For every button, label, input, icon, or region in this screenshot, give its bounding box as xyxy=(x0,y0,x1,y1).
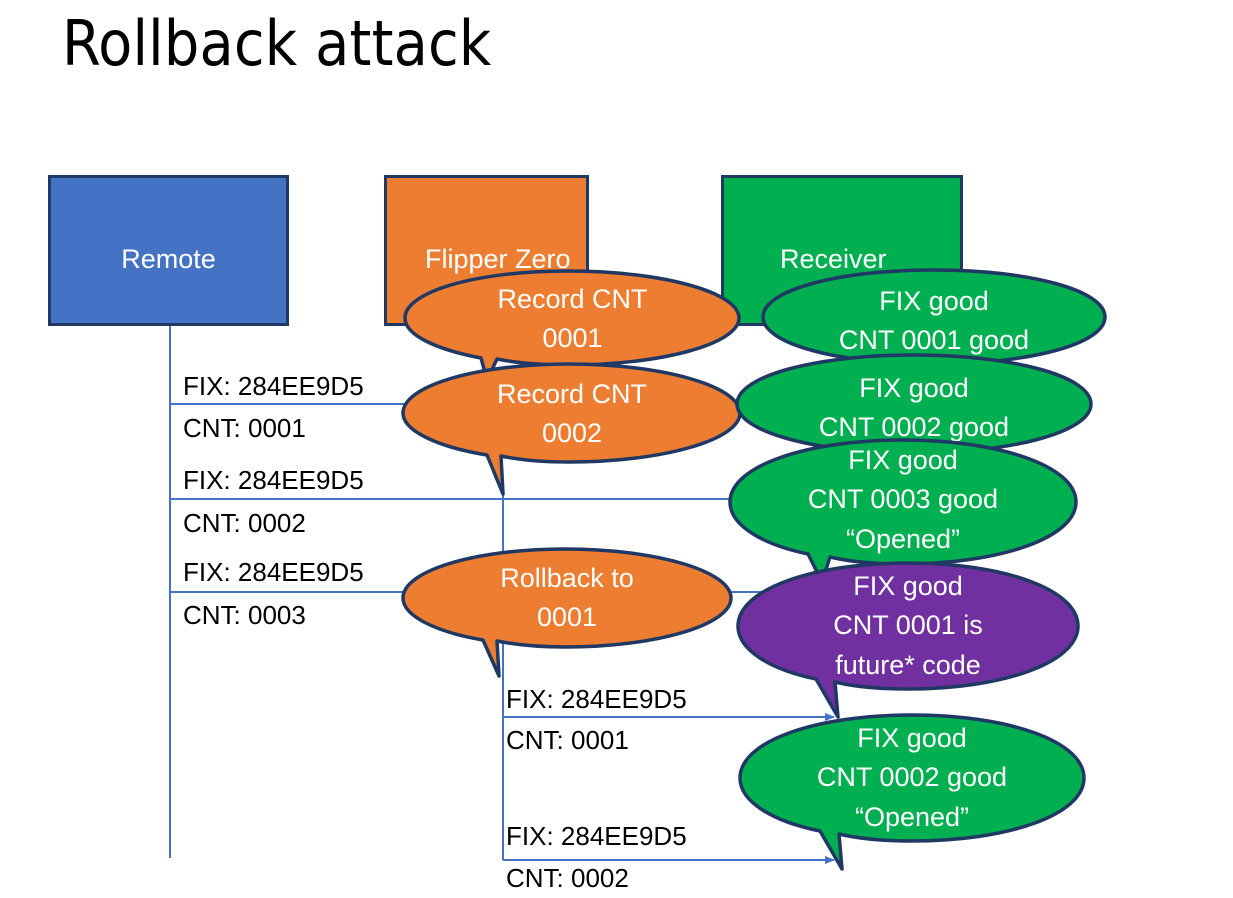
message-cnt-m5: CNT: 0002 xyxy=(506,864,629,893)
bubble-shape xyxy=(399,361,745,501)
message-cnt-m4: CNT: 0001 xyxy=(506,726,629,755)
message-fix-m1: FIX: 284EE9D5 xyxy=(183,372,364,401)
speech-bubble-flipper-2[interactable]: Record CNT 0002 xyxy=(399,361,745,501)
speech-bubble-receiver-4[interactable]: FIX good CNT 0001 is future* code xyxy=(734,560,1082,720)
message-cnt-m1: CNT: 0001 xyxy=(183,414,306,443)
actor-label-remote: Remote xyxy=(51,245,286,275)
message-fix-m2: FIX: 284EE9D5 xyxy=(183,466,364,495)
slide-canvas: Rollback attack Remote Flipper Zero Rece… xyxy=(0,0,1233,898)
speech-bubble-receiver-5[interactable]: FIX good CNT 0002 good “Opened” xyxy=(736,712,1088,872)
bubble-shape xyxy=(734,560,1082,720)
actor-box-remote[interactable]: Remote xyxy=(48,175,289,326)
message-cnt-m2: CNT: 0002 xyxy=(183,509,306,538)
bubble-shape xyxy=(736,712,1088,872)
bubble-shape xyxy=(399,546,735,682)
speech-bubble-flipper-3[interactable]: Rollback to 0001 xyxy=(399,546,735,682)
message-fix-m5: FIX: 284EE9D5 xyxy=(506,822,687,851)
message-fix-m3: FIX: 284EE9D5 xyxy=(183,558,364,587)
message-cnt-m3: CNT: 0003 xyxy=(183,601,306,630)
message-fix-m4: FIX: 284EE9D5 xyxy=(506,685,687,714)
